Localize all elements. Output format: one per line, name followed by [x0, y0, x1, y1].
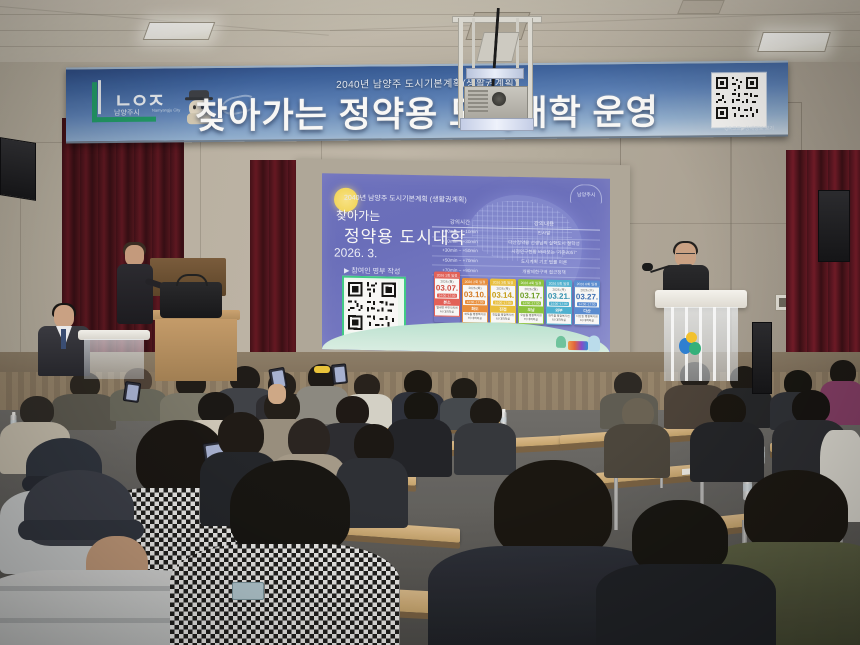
lecture-hall-photo: ㄴㅇㅈ 남양주시 Namyangju City 2040년 남양주 도시기본계획… — [0, 0, 860, 645]
card-time: 14:00~17:00 — [465, 300, 485, 304]
card-date: 03.21. — [547, 292, 571, 302]
card-date: 03.27. — [575, 292, 599, 302]
card-time: 14:00~17:00 — [521, 301, 541, 305]
audience-person — [690, 394, 764, 480]
hair-clip — [314, 366, 330, 373]
schedule-card: 2026 4회 일정 2026.(일) 03.17. 14:00~17:00 오… — [518, 279, 544, 325]
table-header-content: 강의내용 — [488, 218, 600, 228]
schedule-card: 2026 6회 일정 2026.(수) 03.27. 14:00~17:00 다… — [574, 280, 600, 326]
schedule-card: 2026 1회 일정 2026.(월) 03.07. 14:00~17:00 본… — [434, 271, 460, 323]
card-tag: 2026 3회 일정 — [490, 278, 516, 284]
slide-subtitle: 2040년 남양주 도시기본계획 (생활권계획) — [344, 193, 467, 205]
card-time: 14:00~17:00 — [549, 302, 569, 306]
card-desc: 오남읍 행정복지센터 대회의실 — [519, 313, 543, 323]
slide-mascot-icon — [588, 335, 600, 351]
projector-lens-icon — [492, 92, 506, 106]
lecture-schedule-table: 강의시간 강의내용 +00min ~ +10min인사말 +10min ~ +3… — [432, 217, 600, 278]
card-tag: 2026 1회 일정 — [434, 271, 460, 277]
slide-date: 2026. 3. — [334, 245, 377, 260]
ceiling-projector — [452, 8, 540, 133]
wall-speaker-left — [0, 137, 36, 201]
card-tag: 2026 4회 일정 — [518, 279, 544, 285]
card-desc: 화도읍 행정복지센터 대회의실 — [463, 312, 487, 322]
laptop-bag — [160, 282, 222, 318]
smartphone — [331, 363, 348, 384]
microphone — [636, 262, 670, 284]
card-tag: 2026 2회 일정 — [462, 278, 488, 284]
table-header-time: 강의시간 — [432, 217, 488, 226]
card-date: 03.17. — [519, 291, 543, 301]
slide-mascot-tree-icon — [556, 336, 566, 348]
event-banner: ㄴㅇㅈ 남양주시 Namyangju City 2040년 남양주 도시기본계획… — [66, 61, 788, 144]
card-desc: 다산동 행정복지센터 대회의실 — [575, 314, 599, 324]
podium — [655, 290, 747, 382]
audience-person-right-dark — [596, 500, 776, 645]
smartphone — [123, 381, 142, 403]
ceiling-vent-2 — [677, 0, 725, 14]
smartphone — [232, 582, 264, 600]
banner-qr-caption: QR코드▶상세정보 보기 — [724, 125, 774, 132]
wall-speaker-right — [818, 190, 850, 262]
schedule-card: 2026 2회 일정 2026.(화) 03.10. 14:00~17:00 화… — [462, 278, 488, 324]
glasses-icon — [676, 253, 695, 258]
schedule-card: 2026 3회 일정 2026.(목) 03.14. 14:00~17:00 진… — [490, 278, 516, 324]
floor-speaker-right — [752, 322, 772, 394]
card-desc: 와부읍 행정복지센터 대회의실 — [547, 314, 571, 324]
slide-logo-label: 남양주시 — [577, 191, 595, 198]
presentation-slide: 남양주시 2040년 남양주 도시기본계획 (생활권계획) 찾아가는 정약용 도… — [322, 173, 610, 355]
city-emblem-icon — [679, 332, 701, 356]
schedule-cards: 2026 1회 일정 2026.(월) 03.07. 14:00~17:00 본… — [434, 277, 600, 326]
slide-banner-strip — [568, 341, 588, 350]
card-date: 03.07. — [435, 283, 459, 293]
card-desc: 별내면 주민자치센터 대회의실 — [435, 306, 459, 316]
slide-logo-icon: 남양주시 — [570, 184, 602, 204]
card-date: 03.14. — [491, 290, 515, 300]
card-date: 03.10. — [463, 290, 487, 300]
card-tag: 2026 5회 일정 — [546, 280, 572, 286]
banner-title: 찾아가는 정약용 도시대학 운영 — [66, 83, 788, 141]
schedule-card: 2026 5회 일정 2026.(목) 03.21. 14:00~17:00 와… — [546, 280, 572, 326]
card-time: 14:00~17:00 — [437, 294, 457, 298]
card-time: 14:00~17:00 — [577, 303, 597, 307]
audience-person-foreground-houndstooth — [170, 460, 400, 645]
ceiling-light-2 — [757, 32, 831, 52]
lectern — [78, 330, 150, 382]
card-time: 14:00~17:00 — [493, 301, 513, 305]
audience-person-foreground-green — [0, 488, 110, 645]
banner-qr-code — [712, 73, 766, 128]
card-tag: 2026 6회 일정 — [574, 280, 600, 286]
side-table — [152, 310, 240, 382]
raised-hand — [268, 384, 286, 404]
ceiling-light-1 — [143, 22, 216, 40]
